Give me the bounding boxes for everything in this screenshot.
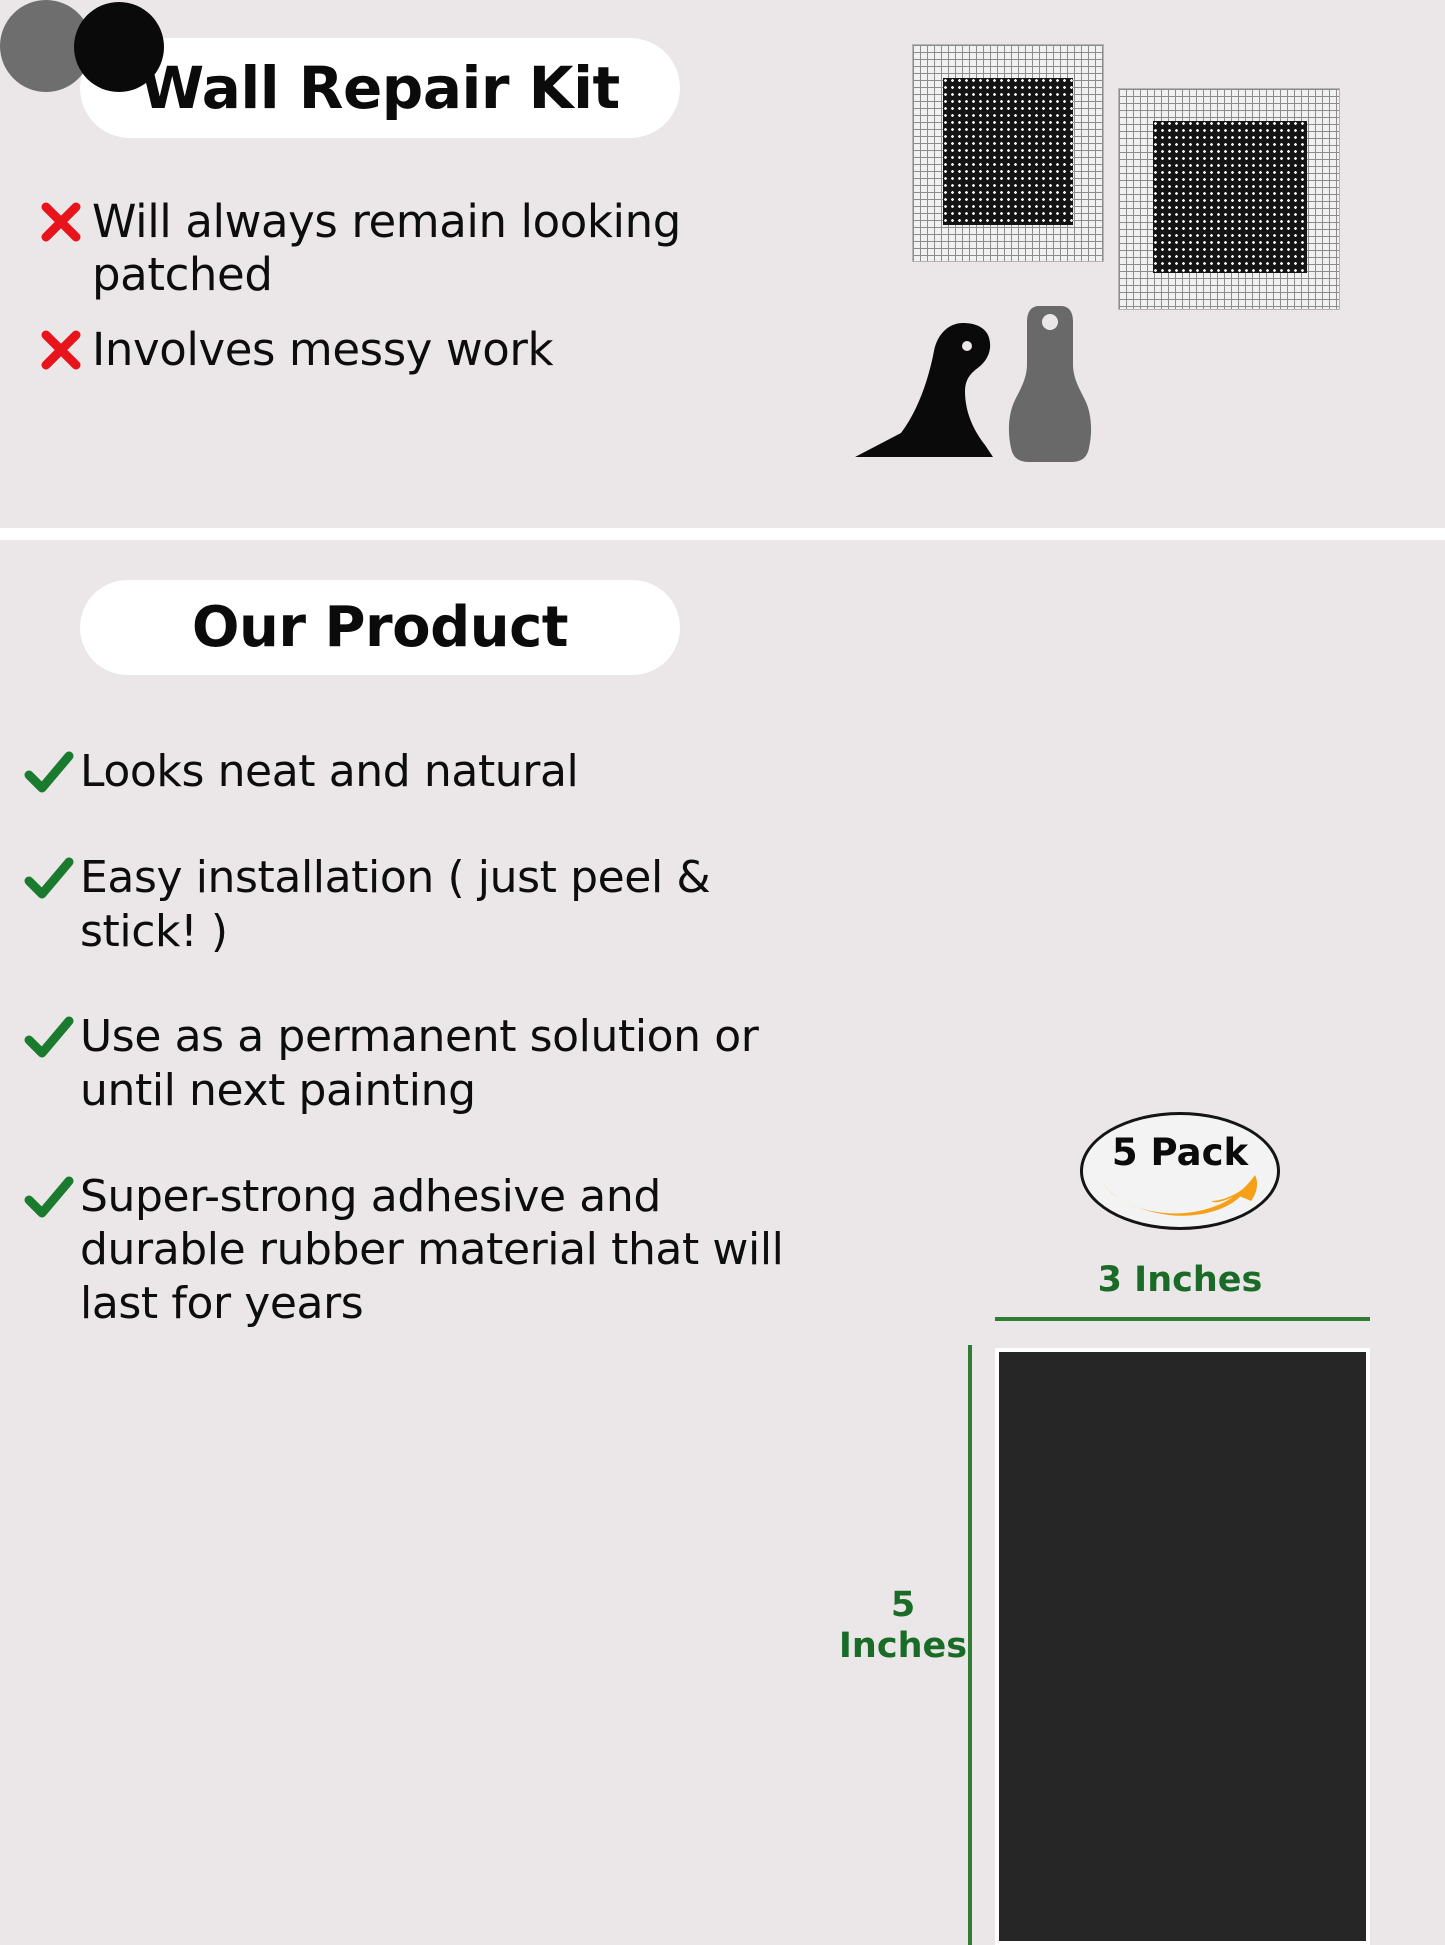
check-icon (18, 1170, 80, 1224)
list-item: Use as a permanent solution or until nex… (18, 1010, 838, 1117)
height-dimension-label: 5 Inches (838, 1585, 968, 1666)
height-dimension-line (968, 1345, 972, 1945)
width-dimension-label: 3 Inches (1000, 1260, 1360, 1300)
mesh-patch-icon (1118, 88, 1340, 310)
check-icon (18, 851, 80, 905)
list-item: Easy installation ( just peel & stick! ) (18, 851, 838, 958)
list-item: Will always remain looking patched (30, 195, 690, 301)
wall-repair-kit-section: Wall Repair Kit Will always remain looki… (0, 0, 1445, 528)
list-item-label: Easy installation ( just peel & stick! ) (80, 851, 838, 958)
pack-count-badge: 5 Pack (1080, 1112, 1280, 1230)
mesh-patch-core (943, 78, 1073, 225)
section-title-pill-top: Wall Repair Kit (80, 38, 680, 138)
sanding-disc-icon (74, 2, 164, 92)
list-item-label: Use as a permanent solution or until nex… (80, 1010, 838, 1117)
cross-icon (30, 195, 92, 245)
list-item-label: Looks neat and natural (80, 745, 578, 799)
amazon-smile-icon (1099, 1173, 1267, 1221)
check-icon (18, 1010, 80, 1064)
height-dimension-unit: Inches (838, 1626, 968, 1667)
list-item-label: Will always remain looking patched (92, 195, 690, 301)
pack-count-label: 5 Pack (1083, 1131, 1277, 1174)
drawback-list: Will always remain looking patched Invol… (30, 195, 690, 398)
cross-icon (30, 323, 92, 373)
putty-knife-icon (1005, 302, 1095, 467)
mesh-patch-core (1153, 121, 1307, 273)
section-title-pill-bottom: Our Product (80, 580, 680, 675)
benefit-list: Looks neat and natural Easy installation… (18, 745, 838, 1383)
list-item: Super-strong adhesive and durable rubber… (18, 1170, 838, 1331)
section-title: Our Product (192, 595, 568, 660)
list-item: Involves messy work (30, 323, 690, 376)
rubber-patch-product-image (995, 1348, 1370, 1945)
width-dimension-line (995, 1317, 1370, 1321)
trowel-icon (845, 305, 1005, 465)
our-product-section: Our Product Looks neat and natural Easy … (0, 540, 1445, 1445)
list-item-label: Involves messy work (92, 323, 553, 376)
check-icon (18, 745, 80, 799)
section-divider (0, 528, 1445, 540)
page-title: Wall Repair Kit (140, 54, 619, 122)
list-item: Looks neat and natural (18, 745, 838, 799)
mesh-patch-icon (912, 44, 1104, 262)
height-dimension-value: 5 (838, 1585, 968, 1626)
list-item-label: Super-strong adhesive and durable rubber… (80, 1170, 838, 1331)
